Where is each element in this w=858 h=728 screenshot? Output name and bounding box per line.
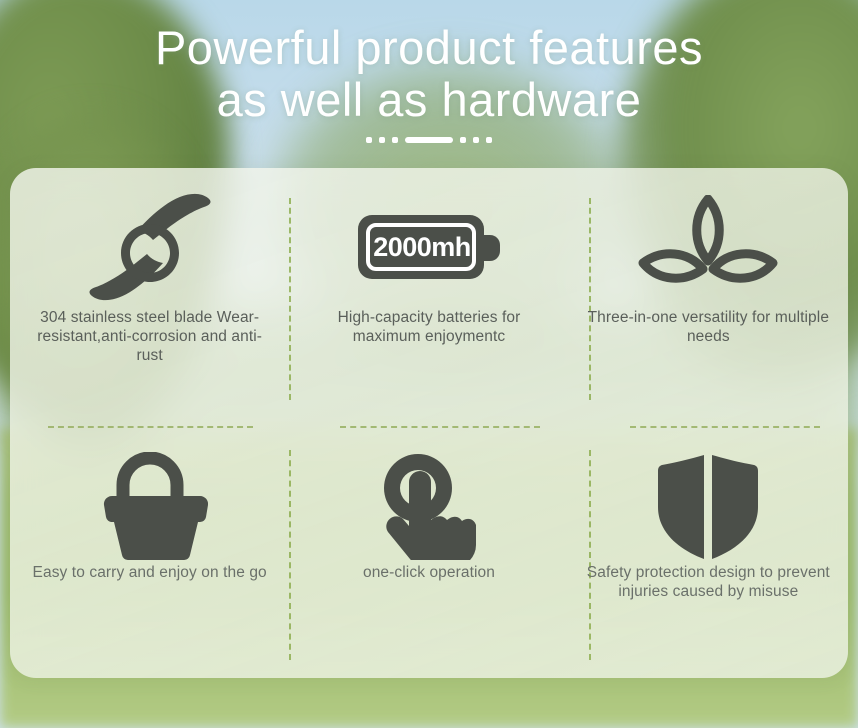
feature-item-battery: 2000mh High-capacity batteries for maxim…	[289, 168, 568, 423]
battery-capacity-label: 2000mh	[356, 207, 488, 287]
feature-caption: Safety protection design to prevent inju…	[569, 563, 848, 601]
feature-caption: High-capacity batteries for maximum enjo…	[289, 308, 568, 346]
feature-item-portability: Easy to carry and enjoy on the go	[10, 423, 289, 678]
battery-icon-wrap: 2000mh	[289, 168, 568, 308]
blade-icon-wrap	[10, 168, 289, 308]
feature-caption: 304 stainless steel blade Wear-resistant…	[10, 308, 289, 365]
features-card: 304 stainless steel blade Wear-resistant…	[10, 168, 848, 678]
feature-item-one-click: one-click operation	[289, 423, 568, 678]
feature-caption: one-click operation	[347, 563, 511, 582]
three-petals-icon	[637, 195, 779, 299]
ornament-dot	[379, 137, 385, 143]
feature-item-versatility: Three-in-one versatility for multiple ne…	[569, 168, 848, 423]
page-title-line-1: Powerful product features	[0, 22, 858, 74]
feature-item-blade: 304 stainless steel blade Wear-resistant…	[10, 168, 289, 423]
three-petals-icon-wrap	[569, 168, 848, 308]
tap-hand-icon-wrap	[289, 423, 568, 563]
ornament-dot	[486, 137, 492, 143]
page-title-line-2: as well as hardware	[0, 74, 858, 126]
shield-icon-wrap	[569, 423, 848, 563]
ornament-dot	[366, 137, 372, 143]
ornament-bar	[405, 137, 453, 143]
feature-caption: Three-in-one versatility for multiple ne…	[569, 308, 848, 346]
battery-badge: 2000mh	[356, 207, 502, 287]
title-ornament-divider	[0, 137, 858, 143]
basket-icon-wrap	[10, 423, 289, 563]
feature-caption: Easy to carry and enjoy on the go	[17, 563, 283, 582]
features-grid: 304 stainless steel blade Wear-resistant…	[10, 168, 848, 678]
ornament-dot	[392, 137, 398, 143]
ornament-dot	[473, 137, 479, 143]
blade-icon	[80, 188, 220, 306]
shield-icon	[654, 451, 762, 561]
basket-icon	[92, 452, 208, 560]
feature-item-safety: Safety protection design to prevent inju…	[569, 423, 848, 678]
ornament-dot	[460, 137, 466, 143]
tap-hand-icon	[374, 452, 484, 560]
page-title: Powerful product features as well as har…	[0, 22, 858, 126]
